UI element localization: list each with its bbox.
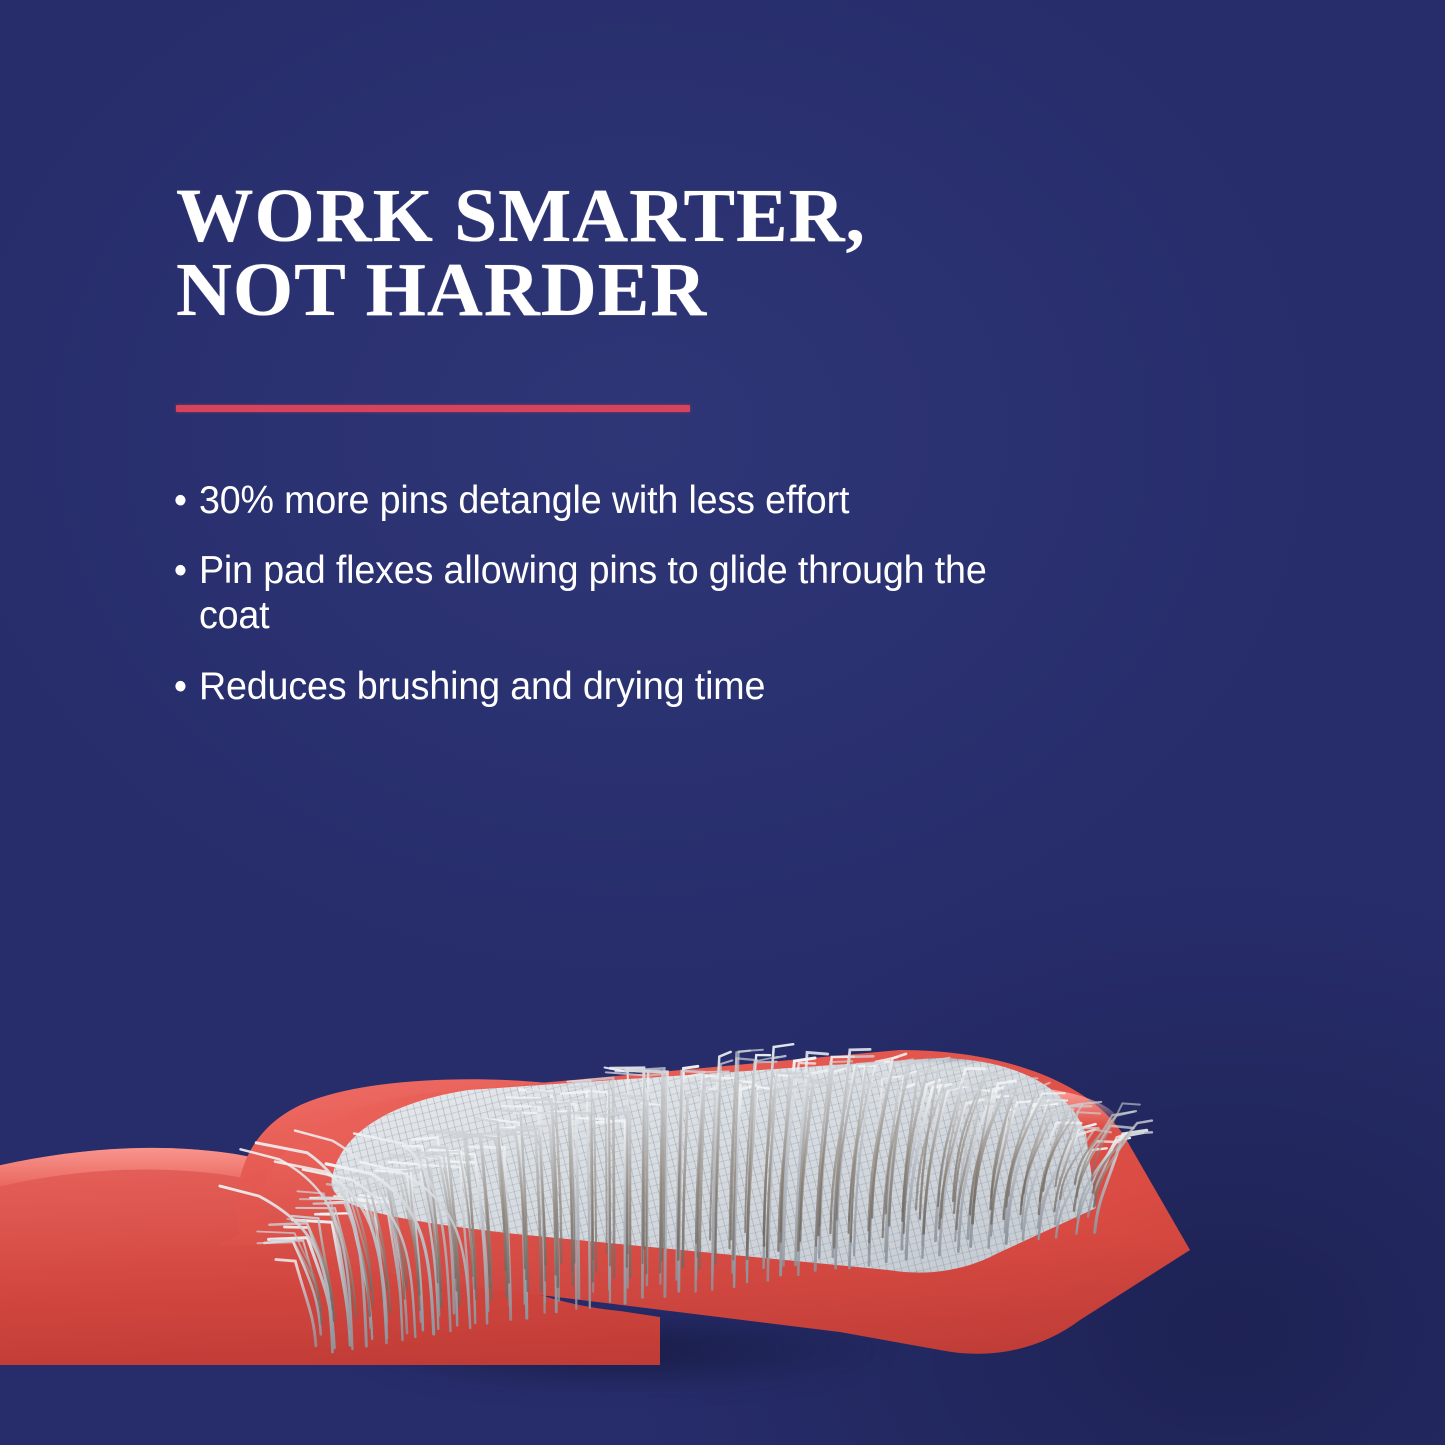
- brush-pin: [1006, 1103, 1057, 1243]
- list-item: • 30% more pins detangle with less effor…: [170, 478, 1000, 523]
- feature-list: • 30% more pins detangle with less effor…: [170, 478, 1030, 709]
- divider-rule: [176, 405, 690, 412]
- page-title: WORK SMARTER, NOT HARDER: [176, 180, 1094, 327]
- brush-pin: [220, 1186, 333, 1352]
- list-item-label: 30% more pins detangle with less effort: [199, 479, 849, 522]
- brush-pin: [849, 1086, 888, 1221]
- product-image: [0, 760, 1445, 1445]
- list-item: • Pin pad flexes allowing pins to glide …: [170, 548, 1000, 638]
- brush-pins: [0, 760, 1445, 1445]
- copy-block: WORK SMARTER, NOT HARDER: [176, 180, 1076, 327]
- list-item: • Reduces brushing and drying time: [170, 664, 1000, 709]
- list-item-label: Reduces brushing and drying time: [199, 665, 765, 708]
- brush-pin: [636, 1071, 662, 1272]
- bullet-marker-icon: •: [174, 664, 187, 709]
- bullet-marker-icon: •: [174, 548, 187, 593]
- bullet-marker-icon: •: [174, 478, 187, 523]
- list-item-label: Pin pad flexes allowing pins to glide th…: [199, 549, 987, 637]
- promo-image: WORK SMARTER, NOT HARDER • 30% more pins…: [0, 0, 1445, 1445]
- brush-pin: [1076, 1138, 1130, 1234]
